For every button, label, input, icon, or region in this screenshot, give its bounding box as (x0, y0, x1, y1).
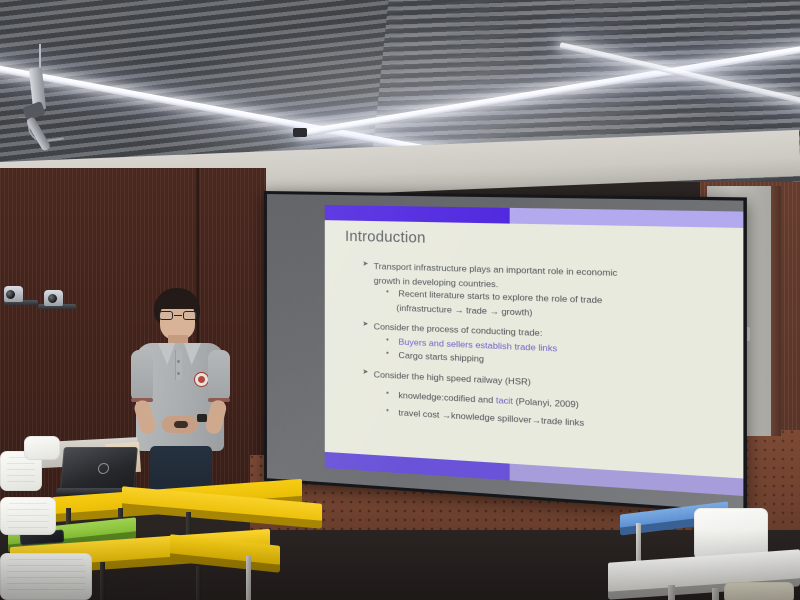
desk-leg (246, 556, 251, 600)
ceiling-projector-icon (293, 128, 307, 137)
sleeve (131, 350, 153, 402)
slide-text-highlight: tacit (496, 394, 513, 405)
desk-leg (712, 588, 719, 600)
desk-leg (668, 585, 675, 600)
projection-screen[interactable]: Introduction Transport infrastructure pl… (264, 191, 747, 515)
slide-title: Introduction (345, 229, 732, 254)
chair-white (724, 582, 794, 600)
slide-text-part: (Polanyi, 2009) (513, 395, 579, 409)
desk-leg (100, 562, 105, 600)
pillar-right-edge (771, 186, 781, 436)
presentation-slide: Introduction Transport infrastructure pl… (325, 205, 744, 496)
chair-white (0, 497, 56, 535)
shirt-placket (175, 350, 182, 380)
slide-body: Introduction Transport infrastructure pl… (325, 220, 744, 478)
laptop-logo-icon (98, 463, 110, 474)
chair-white (24, 436, 60, 460)
desk-leg (636, 523, 641, 563)
hair-fringe (155, 294, 199, 309)
shirt-button (177, 372, 180, 375)
shirt-button (177, 360, 180, 363)
lecture-hall-scene: Introduction Transport infrastructure pl… (0, 0, 800, 600)
desk-leg (196, 566, 201, 600)
laptop-screen (60, 447, 138, 490)
chair-white (0, 553, 92, 600)
screen-surface: Introduction Transport infrastructure pl… (267, 194, 743, 511)
chest-logo-icon (194, 372, 209, 387)
slide-bullet-list: Transport infrastructure plays an import… (343, 259, 732, 437)
glasses-icon (158, 311, 198, 320)
sleeve (208, 350, 230, 402)
hands (162, 416, 198, 433)
wristwatch-icon (197, 414, 207, 422)
